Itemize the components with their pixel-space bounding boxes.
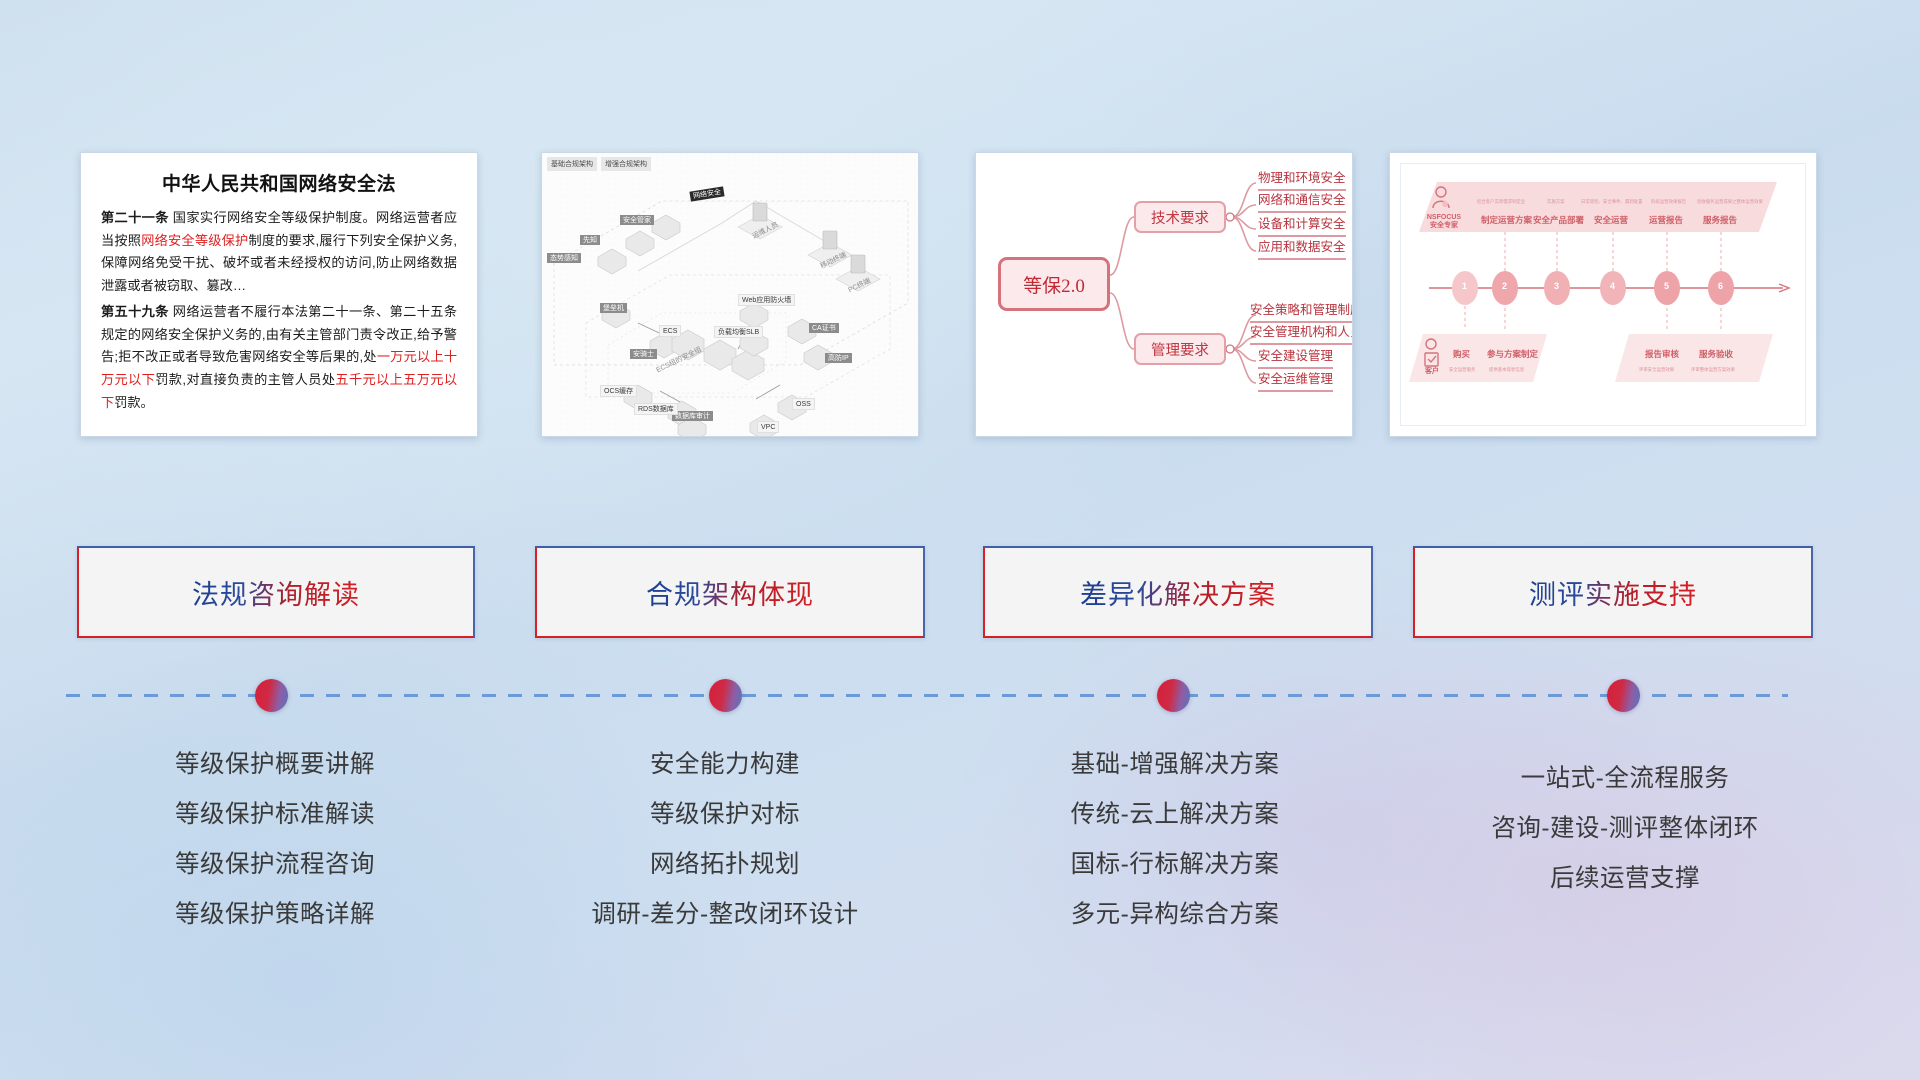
detail-column-2: 安全能力构建 等级保护对标 网络拓扑规划 调研-差分-整改闭环设计 [510, 740, 940, 940]
heading-box-compliance-architecture[interactable]: 合规架构体现 [535, 546, 925, 638]
arch-node-xianzhi: 先知 [580, 235, 600, 245]
nsfocus-step-number-2: 2 [1502, 282, 1507, 292]
list-item: 安全能力构建 [510, 740, 940, 790]
heading-label-2: 合规架构体现 [646, 573, 814, 612]
law-article-21: 第二十一条 国家实行网络安全等级保护制度。网络运营者应当按照网络安全等级保护制度… [101, 207, 457, 298]
nsfocus-step-number-4: 4 [1610, 282, 1615, 292]
list-item: 等级保护策略详解 [70, 890, 480, 940]
nsfocus-top-sub-2: 实施方案 [1547, 200, 1565, 205]
nsfocus-top-step-1: 制定运营方案 [1481, 216, 1532, 225]
nsfocus-expert-role: NSFOCUS 安全专家 [1421, 214, 1467, 229]
article-21-highlight: 网络安全等级保护 [141, 233, 248, 248]
arch-node-oss: OSS [792, 398, 815, 410]
list-item: 等级保护概要讲解 [70, 740, 480, 790]
law-text-block: 中华人民共和国网络安全法 第二十一条 国家实行网络安全等级保护制度。网络运营者应… [81, 153, 477, 436]
nsfocus-top-step-3: 安全运营 [1594, 216, 1628, 225]
timeline-dashed-line [66, 694, 1788, 697]
list-item: 咨询-建设-测评整体闭环 [1400, 804, 1850, 854]
nsfocus-customer-role: 客户 [1419, 368, 1445, 376]
nsfocus-top-step-5: 服务报告 [1703, 216, 1737, 225]
law-article-59: 第五十九条 网络运营者不履行本法第二十一条、第二十五条规定的网络安全保护义务的,… [101, 301, 457, 415]
nsfocus-expert-line2: 安全专家 [1421, 222, 1467, 230]
heading-row: 法规咨询解读 合规架构体现 差异化解决方案 测评实施支持 [0, 546, 1920, 642]
mindmap-leaf-ops-mgmt: 安全运维管理 [1258, 372, 1333, 392]
heading-box-assessment-support[interactable]: 测评实施支持 [1413, 546, 1813, 638]
nsfocus-top-step-4: 运营报告 [1649, 216, 1683, 225]
nsfocus-frame: NSFOCUS 安全专家 结合客户实际需求制定业 制定运营方案 实施方案 安全产… [1400, 163, 1806, 426]
timeline-dot-2[interactable] [709, 679, 742, 712]
nsfocus-step-number-3: 3 [1554, 282, 1559, 292]
arch-node-ca-certificate: CA证书 [809, 323, 839, 333]
arch-node-waf: Web应用防火墙 [738, 294, 795, 306]
card-cybersecurity-law[interactable]: 中华人民共和国网络安全法 第二十一条 国家实行网络安全等级保护制度。网络运营者应… [80, 152, 478, 437]
nsfocus-step-number-5: 5 [1664, 282, 1669, 292]
nsfocus-bottom-step-4: 服务验收 [1699, 350, 1733, 359]
mindmap-leaf-org-personnel: 安全管理机构和人员 [1250, 325, 1353, 345]
mindmap-leaf-app-data: 应用和数据安全 [1258, 240, 1346, 260]
list-item: 等级保护标准解读 [70, 790, 480, 840]
heading-label-4: 测评实施支持 [1529, 573, 1697, 612]
arch-node-security-butler: 安全管家 [620, 215, 654, 225]
mindmap-root: 等保2.0 [998, 257, 1110, 311]
list-item: 后续运营支撑 [1400, 854, 1850, 904]
list-item: 等级保护对标 [510, 790, 940, 840]
arch-node-rds-database: RDS数据库 [634, 403, 678, 415]
list-item: 传统-云上解决方案 [960, 790, 1390, 840]
mindmap: 等保2.0 技术要求 管理要求 物理和环境安全 网络和通信安全 设备和计算安全 … [976, 153, 1352, 436]
nsfocus-step-number-1: 1 [1462, 282, 1467, 292]
article-59-end: 罚款。 [114, 395, 154, 410]
detail-column-4: 一站式-全流程服务 咨询-建设-测评整体闭环 后续运营支撑 [1400, 754, 1850, 904]
timeline-dot-1[interactable] [255, 679, 288, 712]
article-59-mid: 罚款,对直接负责的主管人员处 [155, 372, 335, 387]
timeline-dot-4[interactable] [1607, 679, 1640, 712]
card-mindmap-dengbao[interactable]: 等保2.0 技术要求 管理要求 物理和环境安全 网络和通信安全 设备和计算安全 … [975, 152, 1353, 437]
mindmap-leaf-device-compute: 设备和计算安全 [1258, 217, 1346, 237]
timeline-dot-3[interactable] [1157, 679, 1190, 712]
architecture-lines [542, 153, 919, 437]
arch-node-ecs: ECS [659, 325, 681, 337]
law-title: 中华人民共和国网络安全法 [101, 169, 457, 196]
list-item: 网络拓扑规划 [510, 840, 940, 890]
nsfocus-top-step-2: 安全产品部署 [1533, 216, 1584, 225]
list-item: 一站式-全流程服务 [1400, 754, 1850, 804]
nsfocus-bottom-step-2: 参与方案制定 [1487, 350, 1538, 359]
mindmap-leaf-construction-mgmt: 安全建设管理 [1258, 349, 1333, 369]
nsfocus-top-sub-1: 结合客户实际需求制定业 [1477, 200, 1525, 205]
list-item: 国标-行标解决方案 [960, 840, 1390, 890]
card-compliance-architecture[interactable]: 基础合规架构 增强合规架构 网络安全 安全管家 先知 态势感知 堡垒机 安骑士 … [541, 152, 919, 437]
nsfocus-bottom-sub-3: 评审安全运营效果 [1639, 368, 1674, 373]
nsfocus-process: NSFOCUS 安全专家 结合客户实际需求制定业 制定运营方案 实施方案 安全产… [1390, 153, 1816, 436]
arch-node-db-audit: 数据库审计 [672, 411, 713, 421]
heading-box-regulation-consulting[interactable]: 法规咨询解读 [77, 546, 475, 638]
detail-column-1: 等级保护概要讲解 等级保护标准解读 等级保护流程咨询 等级保护策略详解 [70, 740, 480, 940]
mindmap-branch-management: 管理要求 [1134, 333, 1226, 365]
mindmap-leaf-physical-env: 物理和环境安全 [1258, 171, 1346, 191]
list-item: 多元-异构综合方案 [960, 890, 1390, 940]
arch-node-anti-ddos-ip: 高防IP [825, 353, 852, 363]
nsfocus-step-number-6: 6 [1718, 282, 1723, 292]
nsfocus-top-sub-3: 日常巡检、安全事件、漏洞处置 [1581, 200, 1642, 205]
heading-box-differentiated-solution[interactable]: 差异化解决方案 [983, 546, 1373, 638]
heading-label-3: 差异化解决方案 [1080, 573, 1276, 612]
mindmap-leaf-policy-system: 安全策略和管理制度 [1250, 303, 1353, 323]
slide-canvas: 中华人民共和国网络安全法 第二十一条 国家实行网络安全等级保护制度。网络运营者应… [0, 0, 1920, 1080]
architecture-diagram: 基础合规架构 增强合规架构 网络安全 安全管家 先知 态势感知 堡垒机 安骑士 … [542, 153, 918, 436]
arch-node-ocs-cache: OCS缓存 [600, 385, 637, 397]
nsfocus-bottom-sub-1: 安全运营服务 [1449, 368, 1475, 373]
arch-node-bastion-host: 堡垒机 [600, 303, 627, 313]
article-59-label: 第五十九条 [101, 304, 169, 319]
card-nsfocus-timeline[interactable]: NSFOCUS 安全专家 结合客户实际需求制定业 制定运营方案 实施方案 安全产… [1389, 152, 1817, 437]
nsfocus-bottom-sub-4: 评审整体运营方案效果 [1691, 368, 1735, 373]
arch-node-anqishi: 安骑士 [630, 349, 657, 359]
detail-column-3: 基础-增强解决方案 传统-云上解决方案 国标-行标解决方案 多元-异构综合方案 [960, 740, 1390, 940]
arch-node-slb: 负载均衡SLB [714, 326, 763, 338]
nsfocus-bottom-step-3: 报告审核 [1645, 350, 1679, 359]
card-row: 中华人民共和国网络安全法 第二十一条 国家实行网络安全等级保护制度。网络运营者应… [0, 152, 1920, 442]
arch-tab-basic[interactable]: 基础合规架构 [547, 157, 597, 171]
list-item: 等级保护流程咨询 [70, 840, 480, 890]
heading-label-1: 法规咨询解读 [192, 573, 360, 612]
arch-tab-enhanced[interactable]: 增强合规架构 [601, 157, 651, 171]
nsfocus-top-sub-4: 阶段运营效果报告 [1651, 200, 1686, 205]
nsfocus-bottom-step-1: 购买 [1453, 350, 1470, 359]
article-21-label: 第二十一条 [101, 210, 169, 225]
arch-node-situational-awareness: 态势感知 [547, 253, 581, 263]
list-item: 基础-增强解决方案 [960, 740, 1390, 790]
nsfocus-bottom-sub-2: 提供基本现状信息 [1489, 368, 1524, 373]
list-item: 调研-差分-整改闭环设计 [510, 890, 940, 940]
arch-node-vpc: VPC [757, 421, 779, 433]
architecture-tabs[interactable]: 基础合规架构 增强合规架构 [547, 157, 651, 171]
mindmap-branch-technical: 技术要求 [1134, 201, 1226, 233]
nsfocus-top-sub-5: 验收服务运营成果之整体运营效果 [1697, 200, 1763, 205]
mindmap-leaf-network-comm: 网络和通信安全 [1258, 193, 1346, 213]
nsfocus-expert-line1: NSFOCUS [1421, 214, 1467, 222]
